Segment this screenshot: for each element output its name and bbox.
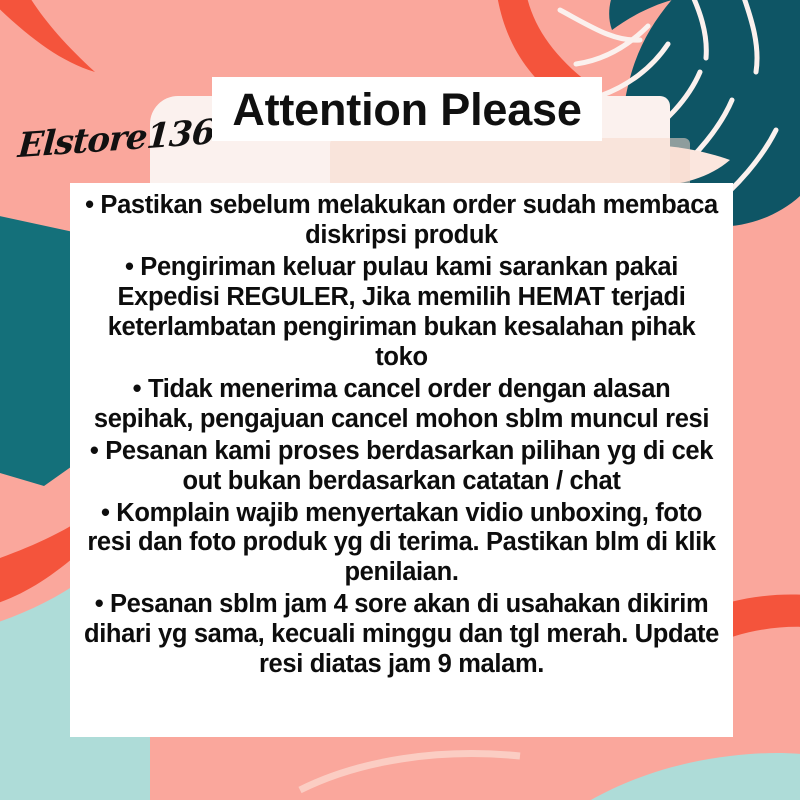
rule-item: • Pesanan sblm jam 4 sore akan di usahak… — [76, 590, 727, 680]
rule-item: • Pengiriman keluar pulau kami sarankan … — [76, 253, 727, 373]
page-title: Attention Please — [232, 87, 581, 132]
rules-panel: • Pastikan sebelum melakukan order sudah… — [70, 183, 733, 737]
rule-item: • Pesanan kami proses berdasarkan piliha… — [76, 437, 727, 497]
arc-bottom-center — [300, 754, 520, 790]
rule-item: • Tidak menerima cancel order dengan ala… — [76, 375, 727, 435]
stripe-top-left — [0, 0, 95, 72]
rule-item: • Komplain wajib menyertakan vidio unbox… — [76, 499, 727, 589]
rule-item: • Pastikan sebelum melakukan order sudah… — [76, 191, 727, 251]
block-bottom-right-mint — [560, 753, 800, 800]
title-banner: Attention Please — [212, 77, 602, 141]
promo-graphic-canvas: Elstore136 Attention Please • Pastikan s… — [0, 0, 800, 800]
